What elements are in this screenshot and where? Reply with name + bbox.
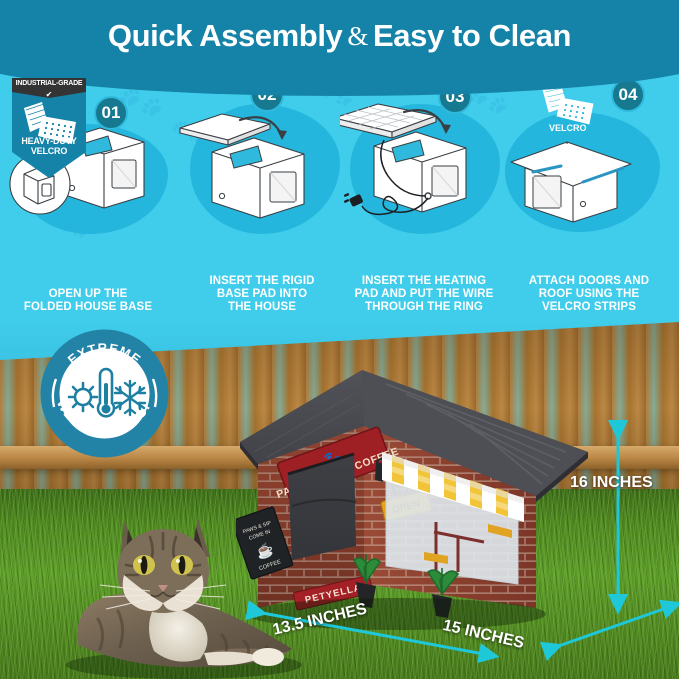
caption-line: ROOF USING THE xyxy=(507,288,671,301)
assembly-steps-panel: 🐾 🐾 🐾 🐾 🐾 🐾 01 xyxy=(0,64,679,322)
step-caption: ATTACH DOORS AND ROOF USING THE VELCRO S… xyxy=(507,275,671,314)
step-caption: OPEN UP THE FOLDED HOUSE BASE xyxy=(6,288,170,314)
caption-line: ATTACH DOORS AND xyxy=(507,275,671,288)
caption-line: FOLDED HOUSE BASE xyxy=(6,301,170,314)
velcro-icon: VELCRO xyxy=(543,86,593,133)
step-number-badge: 01 xyxy=(94,96,128,130)
caption-line: VELCRO STRIPS xyxy=(507,301,671,314)
check-icon: ✔ xyxy=(46,90,53,99)
velcro-label-line-2: VELCRO xyxy=(12,146,86,156)
step-caption: INSERT THE RIGID BASE PAD INTO THE HOUSE xyxy=(180,275,344,314)
step-number-label: 04 xyxy=(619,85,638,105)
infographic-page: Quick Assembly & Easy to Clean 🐾 🐾 🐾 🐾 🐾… xyxy=(0,0,679,679)
step-caption: INSERT THE HEATING PAD AND PUT THE WIRE … xyxy=(342,275,506,314)
velcro-badge-label: HEAVY-DUTY VELCRO xyxy=(12,136,86,156)
plug-icon xyxy=(344,193,364,207)
step-number-label: 01 xyxy=(102,103,121,123)
depth-arrow xyxy=(553,606,672,648)
dimension-label-height: 16 INCHES xyxy=(570,474,653,492)
caption-line: BASE PAD INTO xyxy=(180,288,344,301)
assembly-step: 04 VELCRO xyxy=(505,74,673,322)
caption-line: THROUGH THE RING xyxy=(342,301,506,314)
title-part-2: Easy to Clean xyxy=(373,18,571,54)
industrial-grade-label: INDUSTRIAL-GRADE xyxy=(16,80,83,87)
title-part-1: Quick Assembly xyxy=(108,18,342,54)
caption-line: THE HOUSE xyxy=(180,301,344,314)
assembly-step: 02 xyxy=(178,74,346,322)
step-illustration-heating-pad xyxy=(340,84,508,224)
title-ampersand: & xyxy=(342,21,373,52)
step-illustration-attach-roof: VELCRO xyxy=(505,84,673,224)
assembly-step: 03 xyxy=(340,74,508,322)
caption-line: OPEN UP THE xyxy=(6,288,170,301)
caption-line: INSERT THE RIGID xyxy=(180,275,344,288)
industrial-grade-velcro-badge: INDUSTRIAL-GRADE ✔ HEAVY-DUTY VELCRO xyxy=(12,78,86,178)
caption-line: PAD AND PUT THE WIRE xyxy=(342,288,506,301)
velcro-label-line-1: HEAVY-DUTY xyxy=(12,136,86,146)
caption-line: INSERT THE HEATING xyxy=(342,275,506,288)
page-title: Quick Assembly & Easy to Clean xyxy=(0,0,679,72)
extreme-weatherproof-badge: EXTREME WEATHERPROOF xyxy=(38,327,171,460)
velcro-icon-label: VELCRO xyxy=(549,123,587,133)
